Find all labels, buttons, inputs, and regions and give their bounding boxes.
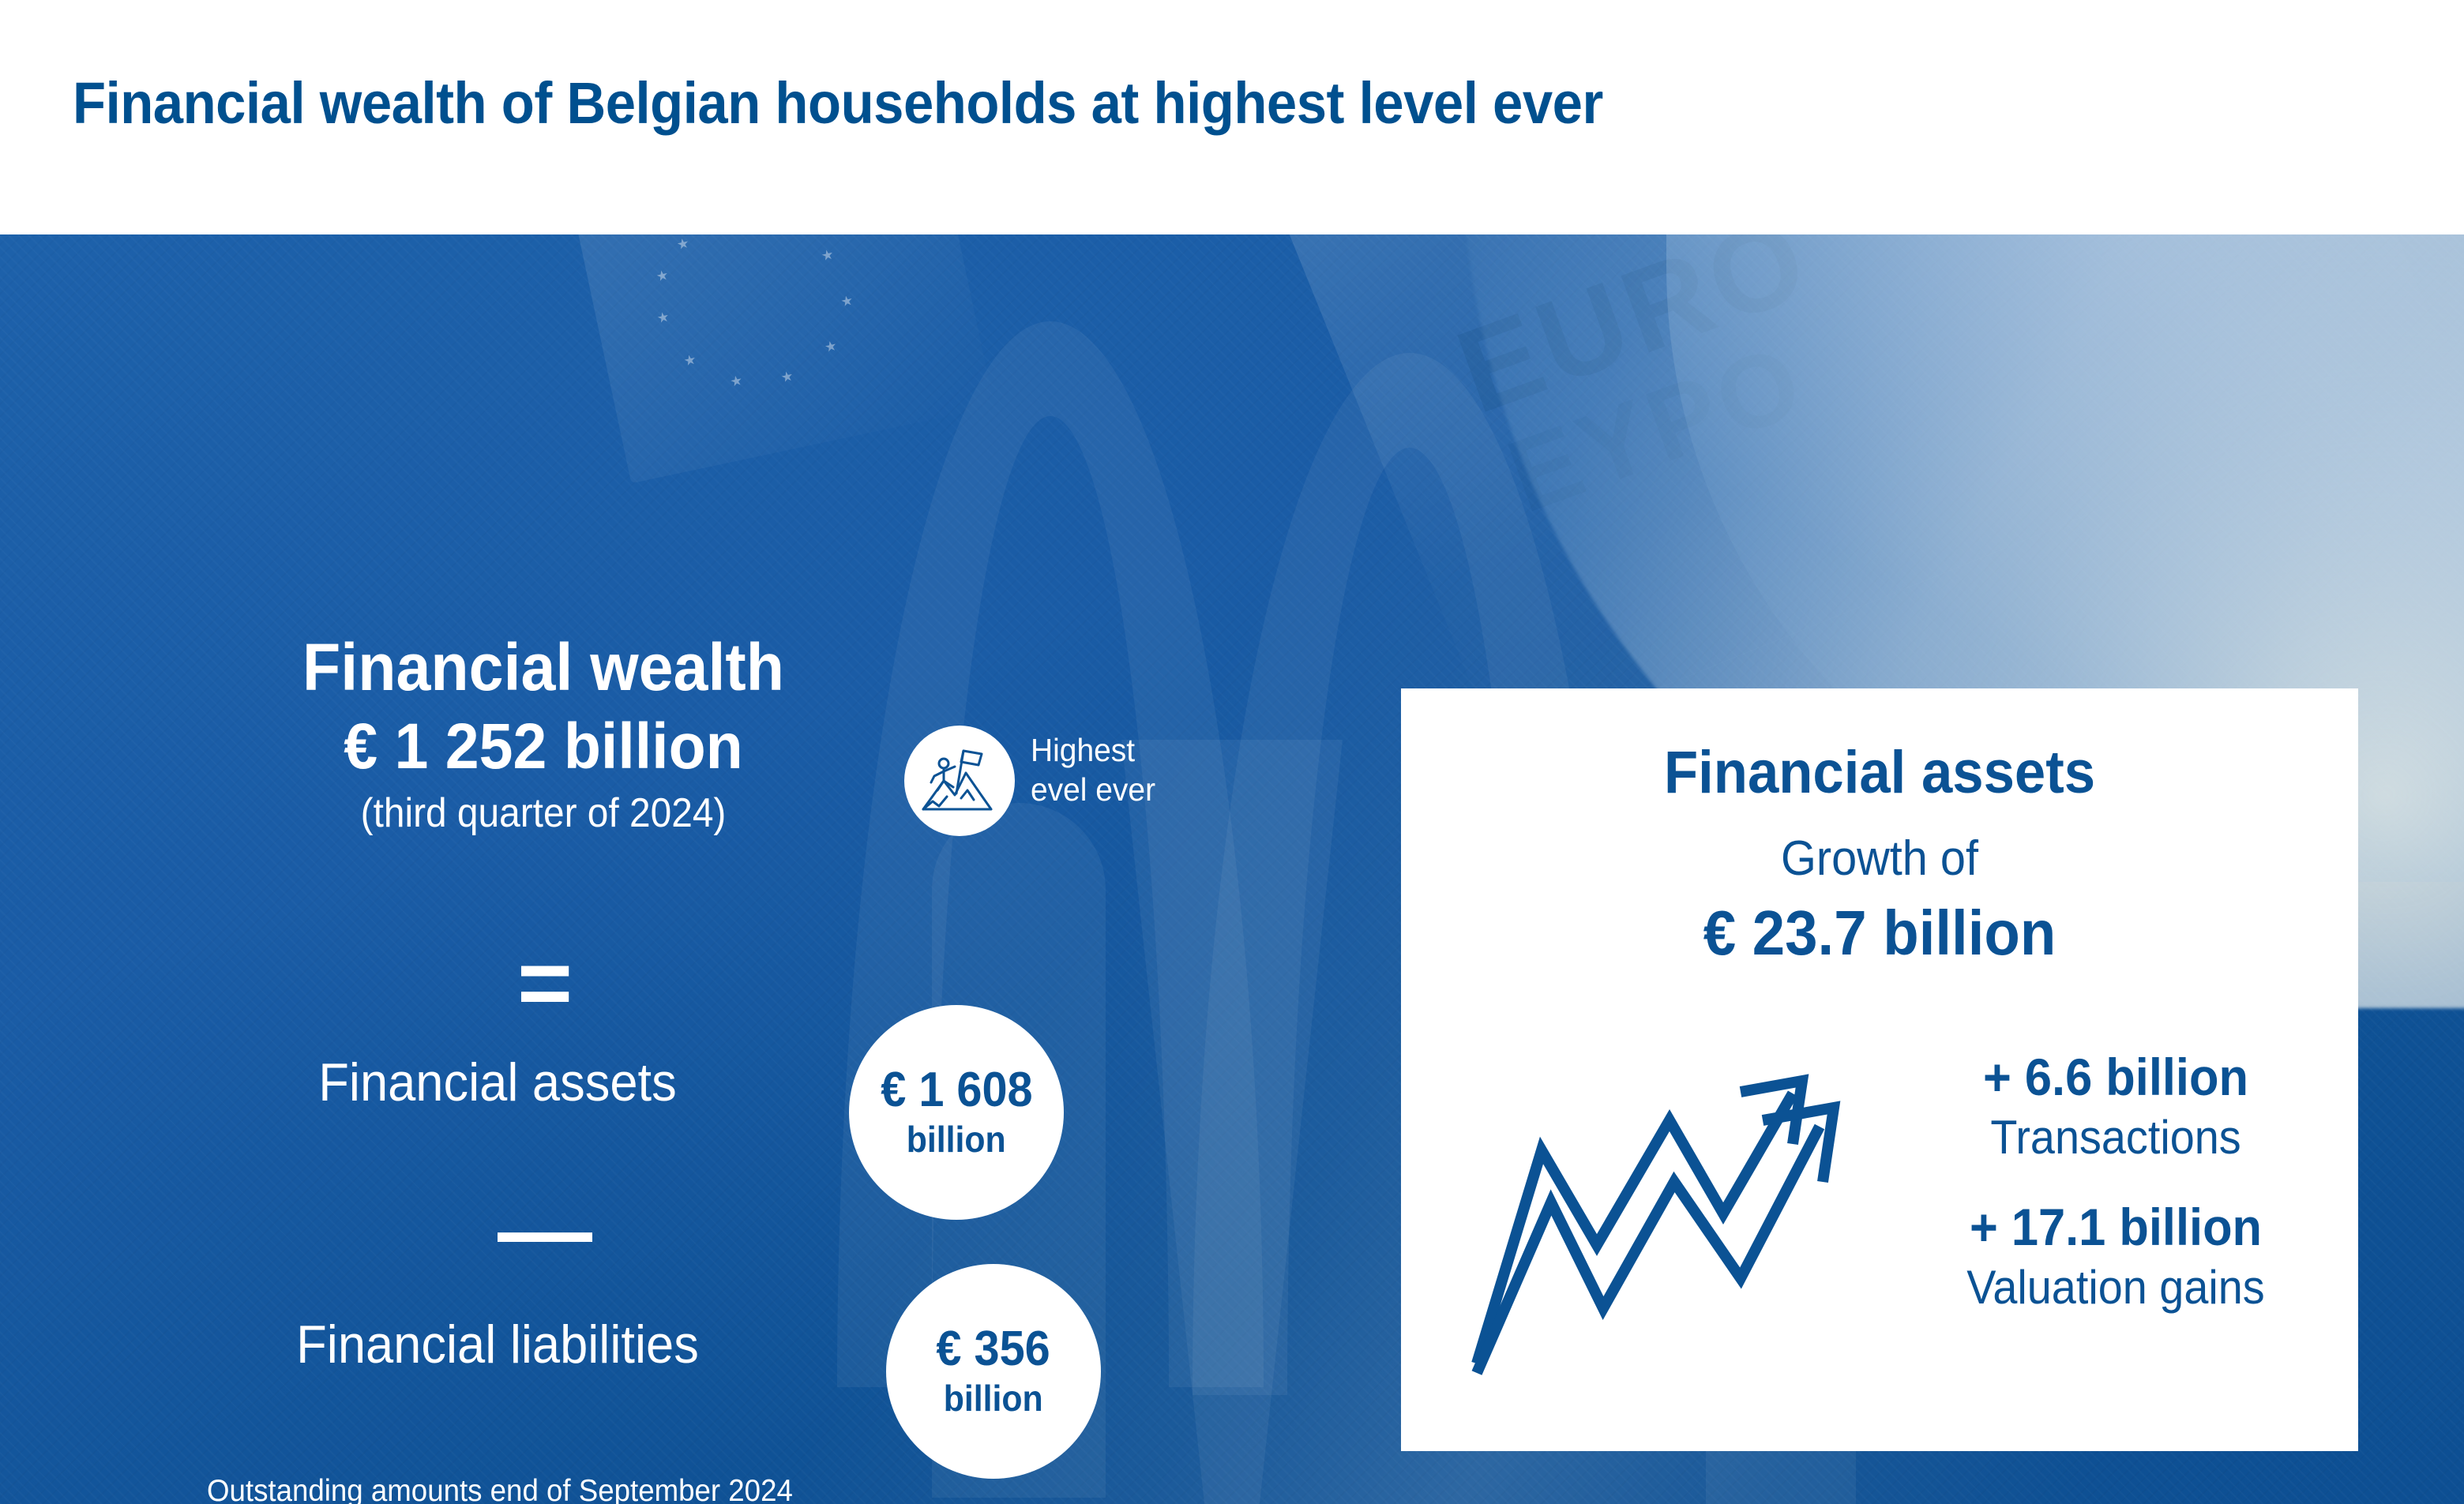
mountain-climber-flag-icon [920,741,999,820]
financial-assets-unit: billion [907,1119,1006,1160]
financial-liabilities-amount: € 356 [937,1324,1050,1375]
badge-line-2: evel ever [1031,771,1155,808]
financial-liabilities-bubble: € 356 billion [886,1264,1101,1479]
financial-assets-label: Financial assets [204,1051,791,1114]
financial-wealth-amount: € 1 252 billion [239,710,848,784]
highest-level-badge [904,726,1015,836]
eu-flag-fragment [577,234,994,483]
financial-assets-bubble: € 1 608 billion [849,1005,1064,1220]
highest-level-badge-label: Highest evel ever [1031,730,1279,809]
badge-line-1: Highest [1031,732,1135,768]
growth-breakdown: + 6.6 billion Transactions + 17.1 billio… [1906,1045,2325,1317]
card-title: Financial assets [1434,737,2324,808]
equals-operator: = [482,943,608,1022]
financial-wealth-period: (third quarter of 2024) [246,789,841,838]
financial-assets-card: Financial assets Growth of € 23.7 billio… [1401,688,2358,1451]
financial-liabilities-unit: billion [944,1378,1043,1419]
minus-operator: — [482,1179,608,1281]
card-growth-amount: € 23.7 billion [1434,895,2324,971]
page-title: Financial wealth of Belgian households a… [73,69,1603,137]
breakdown-value-1: + 17.1 billion [1921,1195,2311,1258]
card-growth-label: Growth of [1434,829,2324,889]
infographic-canvas: Financial wealth of Belgian households a… [0,0,2464,1504]
breakdown-label-1: Valuation gains [1921,1258,2311,1317]
financial-wealth-heading: Financial wealth [239,629,848,705]
financial-assets-amount: € 1 608 [881,1065,1032,1116]
breakdown-label-0: Transactions [1921,1108,2311,1167]
main-panel: EURO EYPO Financial wealth € 1 252 billi… [0,234,2464,1504]
financial-liabilities-label: Financial liabilities [204,1313,791,1376]
breakdown-spacer [1906,1167,2325,1195]
upward-trend-arrow-icon [1463,1048,1873,1387]
breakdown-value-0: + 6.6 billion [1921,1045,2311,1108]
header-band: Financial wealth of Belgian households a… [0,0,2464,234]
footnote: Outstanding amounts end of September 202… [207,1472,793,1504]
